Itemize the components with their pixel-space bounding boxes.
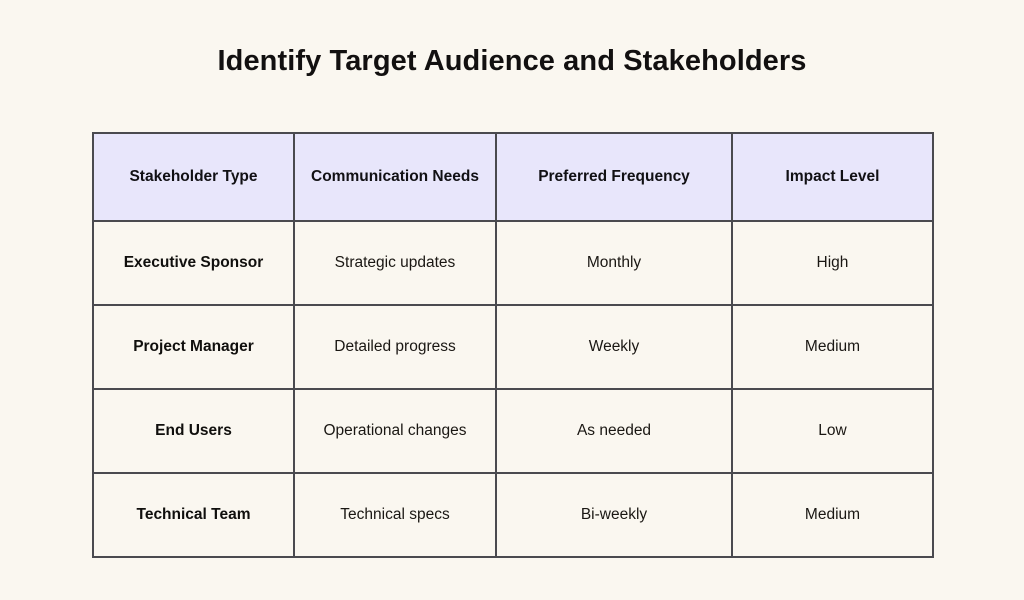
cell-communication-needs: Detailed progress [294, 305, 496, 389]
stakeholder-table: Stakeholder Type Communication Needs Pre… [92, 132, 934, 558]
table-header: Stakeholder Type Communication Needs Pre… [93, 133, 933, 221]
cell-preferred-frequency: Weekly [496, 305, 732, 389]
slide-canvas: Identify Target Audience and Stakeholder… [0, 0, 1024, 600]
cell-impact-level: Medium [732, 473, 933, 557]
table-row: Project Manager Detailed progress Weekly… [93, 305, 933, 389]
page-title: Identify Target Audience and Stakeholder… [0, 44, 1024, 79]
cell-stakeholder-type: Executive Sponsor [93, 221, 294, 305]
cell-preferred-frequency: Monthly [496, 221, 732, 305]
cell-communication-needs: Strategic updates [294, 221, 496, 305]
cell-stakeholder-type: End Users [93, 389, 294, 473]
column-header-preferred-frequency: Preferred Frequency [496, 133, 732, 221]
cell-stakeholder-type: Technical Team [93, 473, 294, 557]
column-header-communication-needs: Communication Needs [294, 133, 496, 221]
column-header-stakeholder-type: Stakeholder Type [93, 133, 294, 221]
table-row: Technical Team Technical specs Bi-weekly… [93, 473, 933, 557]
cell-communication-needs: Operational changes [294, 389, 496, 473]
cell-impact-level: High [732, 221, 933, 305]
cell-preferred-frequency: As needed [496, 389, 732, 473]
stakeholder-table-container: Stakeholder Type Communication Needs Pre… [92, 132, 932, 558]
cell-impact-level: Medium [732, 305, 933, 389]
table-header-row: Stakeholder Type Communication Needs Pre… [93, 133, 933, 221]
cell-communication-needs: Technical specs [294, 473, 496, 557]
table-row: Executive Sponsor Strategic updates Mont… [93, 221, 933, 305]
cell-impact-level: Low [732, 389, 933, 473]
cell-stakeholder-type: Project Manager [93, 305, 294, 389]
table-row: End Users Operational changes As needed … [93, 389, 933, 473]
table-body: Executive Sponsor Strategic updates Mont… [93, 221, 933, 557]
cell-preferred-frequency: Bi-weekly [496, 473, 732, 557]
column-header-impact-level: Impact Level [732, 133, 933, 221]
